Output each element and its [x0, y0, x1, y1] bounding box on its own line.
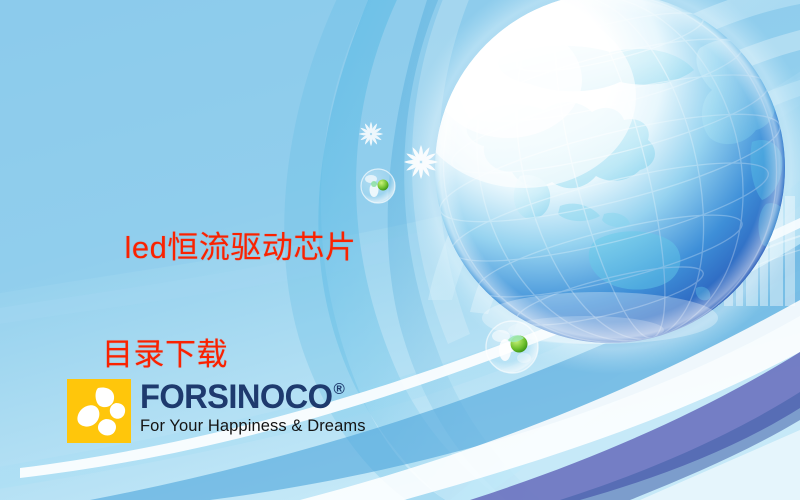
logo-wordmark-text: FORSINOCO	[140, 381, 332, 414]
bubble-with-globe-icon	[486, 321, 538, 373]
headline-line-1: led恒流驱动芯片	[124, 230, 356, 265]
logo-tagline: For Your Happiness & Dreams	[140, 417, 366, 436]
banner-image: led恒流驱动芯片 目录下载 FORSINOCO ® For Your Happ…	[0, 0, 800, 500]
headline-line-2: 目录下载	[102, 328, 356, 381]
logo-wordmark: FORSINOCO ®	[140, 381, 357, 414]
pinwheel-flower-icon	[67, 379, 131, 443]
registered-trademark-icon: ®	[333, 382, 344, 398]
bubble-with-globe-icon	[361, 169, 395, 203]
company-logo[interactable]: FORSINOCO ® For Your Happiness & Dreams	[67, 379, 366, 443]
